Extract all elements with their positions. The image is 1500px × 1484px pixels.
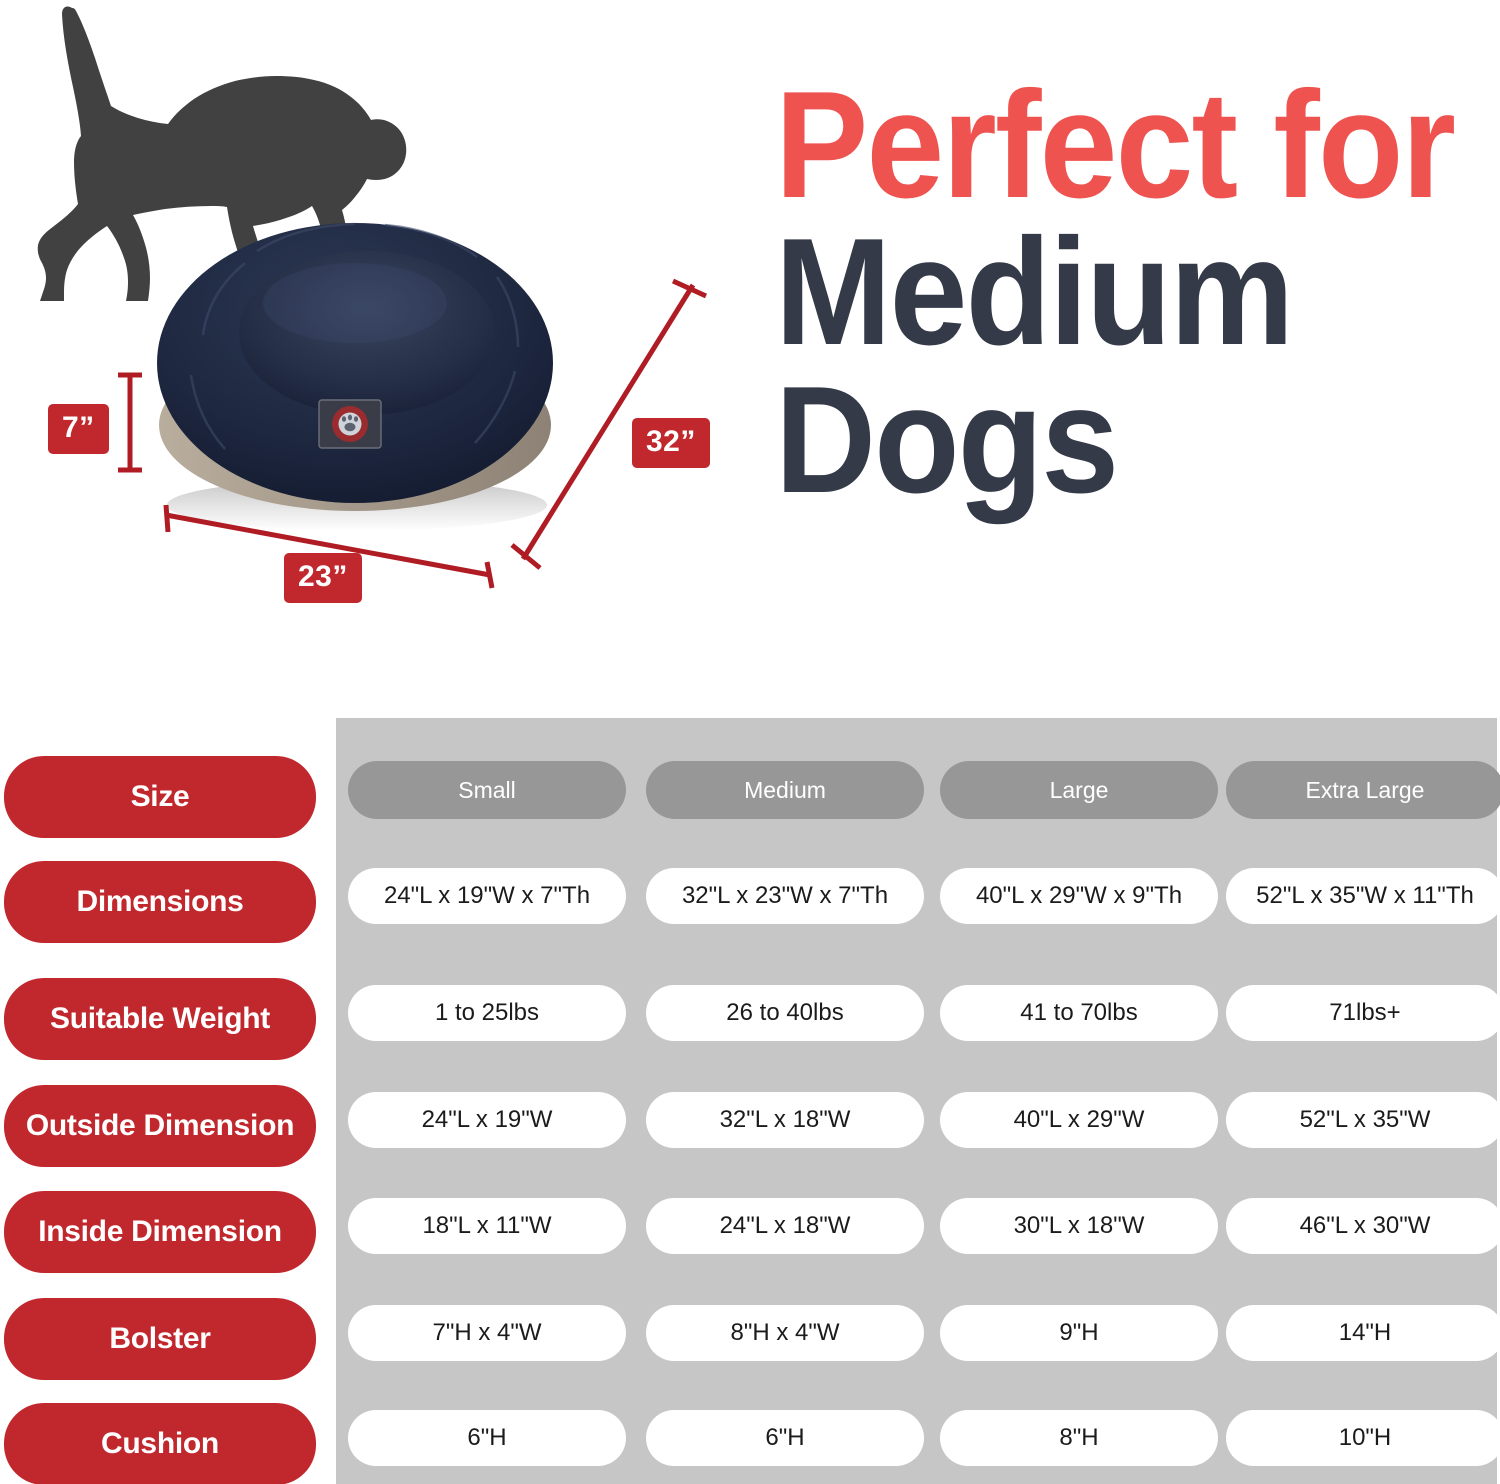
table-cell: 24"L x 19"W x 7"Th <box>348 868 626 924</box>
table-cell: 30"L x 18"W <box>940 1198 1218 1254</box>
table-cell-grid: SmallMediumLargeExtra Large24"L x 19"W x… <box>336 718 1497 1484</box>
heading-line-3: Dogs <box>775 367 1437 514</box>
table-row-label: Size <box>4 756 316 838</box>
table-cell: 52"L x 35"W <box>1226 1092 1500 1148</box>
table-cell: 8"H <box>940 1410 1218 1466</box>
dimension-badge-height: 7” <box>48 404 109 454</box>
table-cell: 14"H <box>1226 1305 1500 1361</box>
table-row-label: Cushion <box>4 1403 316 1484</box>
heading-line-1: Perfect for <box>775 72 1437 219</box>
table-cell: 32"L x 23"W x 7"Th <box>646 868 924 924</box>
table-cell: 71lbs+ <box>1226 985 1500 1041</box>
dimension-badge-width: 23” <box>284 553 362 603</box>
table-row-label: Suitable Weight <box>4 978 316 1060</box>
table-row-label: Bolster <box>4 1298 316 1380</box>
table-cell: 18"L x 11"W <box>348 1198 626 1254</box>
table-row-label: Inside Dimension <box>4 1191 316 1273</box>
table-cell: 6"H <box>646 1410 924 1466</box>
table-cell: 41 to 70lbs <box>940 985 1218 1041</box>
hero-section: 7” 23” 32” Perfect for Medium Dogs <box>0 0 1500 700</box>
heading-line-2: Medium <box>775 219 1437 366</box>
product-size-chart-page: 7” 23” 32” Perfect for Medium Dogs SizeD… <box>0 0 1500 1484</box>
table-column-header: Small <box>348 761 626 819</box>
size-chart-table: SizeDimensionsSuitable WeightOutside Dim… <box>0 718 1500 1484</box>
table-cell: 40"L x 29"W <box>940 1092 1218 1148</box>
table-cell: 6"H <box>348 1410 626 1466</box>
table-cell: 32"L x 18"W <box>646 1092 924 1148</box>
table-cell: 9"H <box>940 1305 1218 1361</box>
dimension-badge-length: 32” <box>632 418 710 468</box>
table-row-label-column: SizeDimensionsSuitable WeightOutside Dim… <box>0 718 320 1484</box>
table-cell: 52"L x 35"W x 11"Th <box>1226 868 1500 924</box>
table-cell: 24"L x 18"W <box>646 1198 924 1254</box>
table-column-header: Large <box>940 761 1218 819</box>
table-cell: 24"L x 19"W <box>348 1092 626 1148</box>
table-column-header: Extra Large <box>1226 761 1500 819</box>
table-cell: 26 to 40lbs <box>646 985 924 1041</box>
table-row-label: Outside Dimension <box>4 1085 316 1167</box>
table-column-header: Medium <box>646 761 924 819</box>
table-row-label: Dimensions <box>4 861 316 943</box>
table-cell: 10"H <box>1226 1410 1500 1466</box>
table-cell: 46"L x 30"W <box>1226 1198 1500 1254</box>
table-cell: 40"L x 29"W x 9"Th <box>940 868 1218 924</box>
table-cell: 7"H x 4"W <box>348 1305 626 1361</box>
table-cell: 1 to 25lbs <box>348 985 626 1041</box>
table-cell: 8"H x 4"W <box>646 1305 924 1361</box>
dimension-leader-lines <box>0 0 760 640</box>
hero-heading: Perfect for Medium Dogs <box>775 72 1495 514</box>
